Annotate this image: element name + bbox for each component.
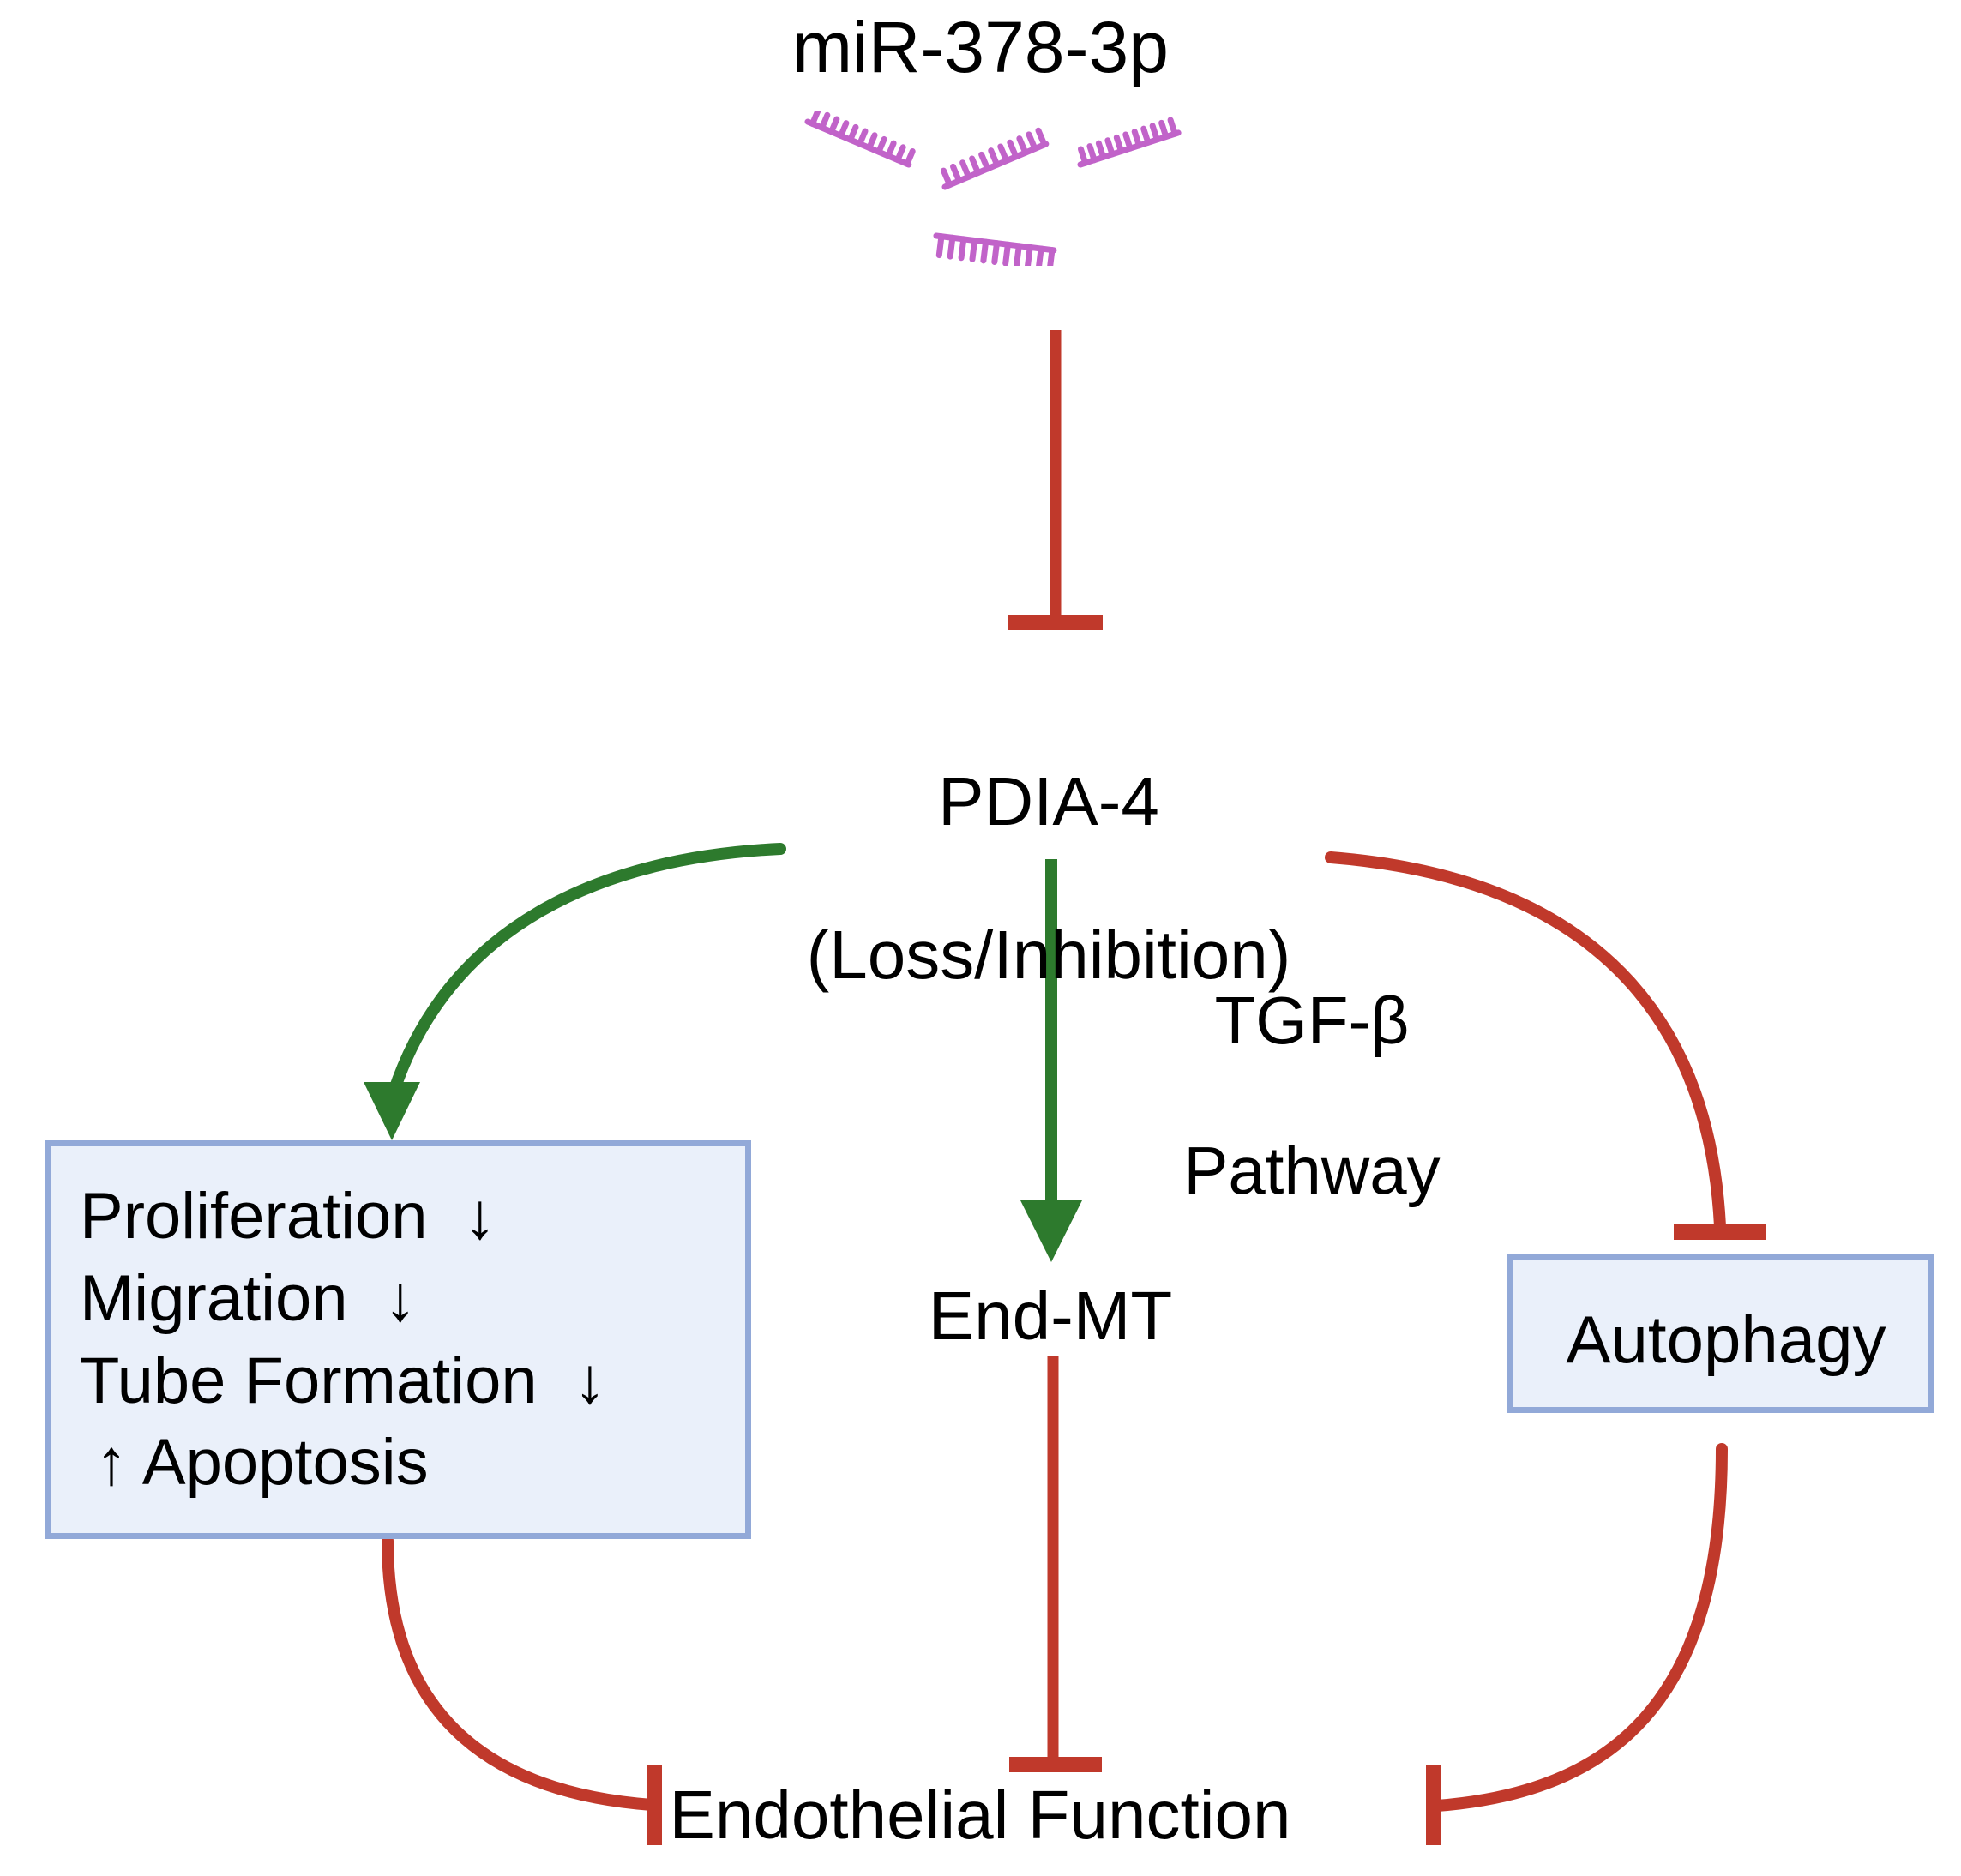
outcome-item-apoptosis: ↑ Apoptosis	[80, 1422, 757, 1504]
tgf-beta-line1: TGF-β	[1089, 983, 1535, 1058]
node-pdia4-line1: PDIA-4	[551, 763, 1546, 840]
pathway-diagram: miR-378-3p	[0, 0, 1961, 1876]
edge-mirna-to-pdia4	[1008, 330, 1103, 622]
outcome-item-tube-formation: Tube Formation ↓	[80, 1340, 757, 1422]
edge-autophagy-to-endothelial-function	[1434, 1449, 1722, 1845]
outcome-item-proliferation: Proliferation ↓	[80, 1176, 757, 1258]
node-end-mt: End-MT	[793, 1278, 1308, 1355]
mirna-title: miR-378-3p	[0, 7, 1961, 87]
tgf-beta-line2: Pathway	[1089, 1133, 1535, 1208]
edge-outcomes-to-endothelial-function	[388, 1541, 654, 1845]
node-autophagy-label: Autophagy	[1513, 1260, 1940, 1419]
edge-endmt-to-endothelial-function	[1009, 1356, 1102, 1765]
autophagy-box: Autophagy	[1507, 1254, 1934, 1413]
node-endothelial-function: Endothelial Function	[637, 1777, 1323, 1854]
edge-label-tgf-beta-pathway: TGF-β Pathway	[1089, 909, 1535, 1284]
mirna-strands-icon	[797, 111, 1226, 266]
outcome-item-migration: Migration ↓	[80, 1258, 757, 1340]
outcomes-list: Proliferation ↓ Migration ↓ Tube Formati…	[51, 1176, 757, 1504]
outcomes-box: Proliferation ↓ Migration ↓ Tube Formati…	[45, 1140, 751, 1539]
